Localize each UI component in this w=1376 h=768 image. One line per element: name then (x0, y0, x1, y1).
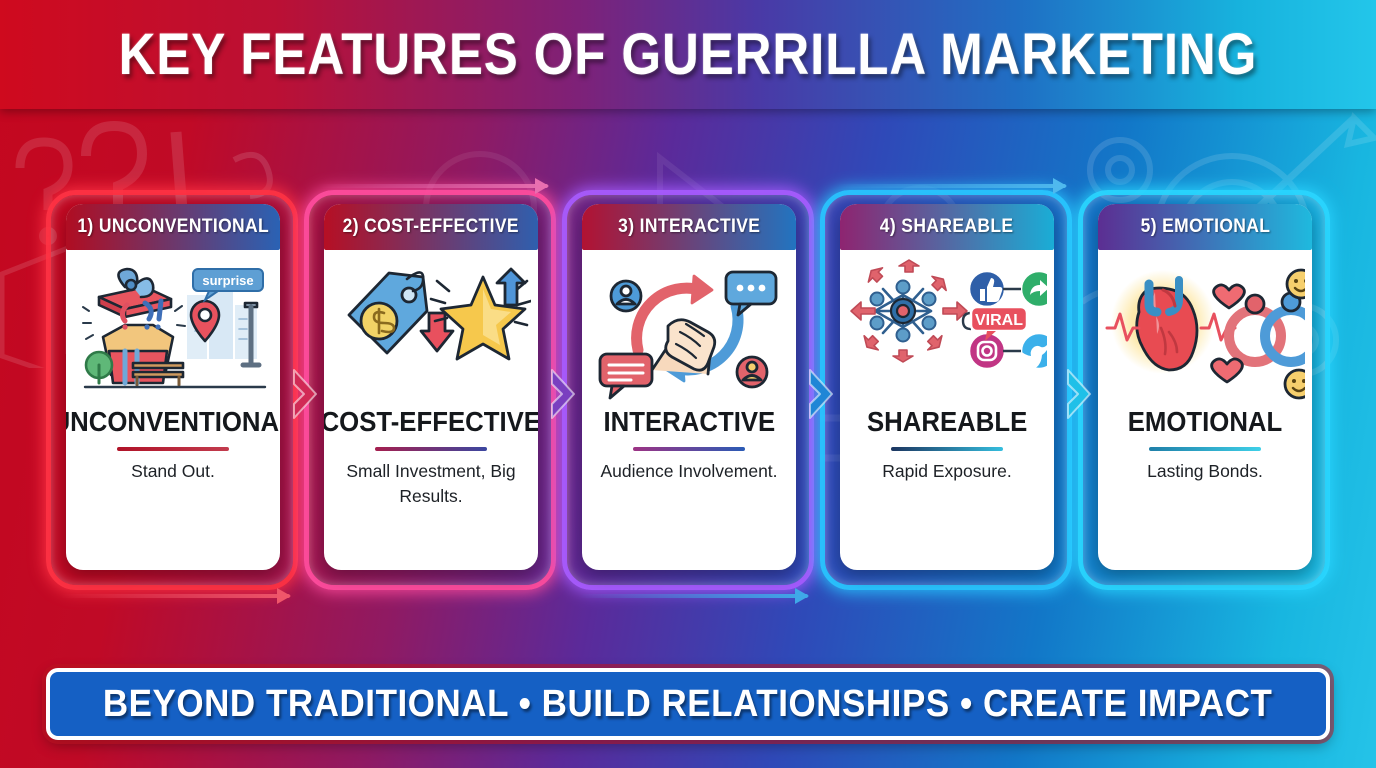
card-divider (633, 447, 745, 451)
arrow-head-icon (1053, 178, 1067, 194)
flow-arrow-bottom-2 (578, 594, 808, 598)
arrow-head-icon (277, 588, 291, 604)
card-title: SHAREABLE (867, 406, 1027, 438)
card-subtitle: Small Investment, Big Results. (324, 459, 538, 510)
card-illustration (324, 250, 538, 402)
flow-arrow-top-2 (836, 184, 1066, 188)
arrow-shaft (578, 594, 808, 598)
card-body[interactable]: 5) EMOTIONAL EMOTIONALLastin (1098, 204, 1312, 570)
heart-bonds-icon (1105, 256, 1305, 402)
arrow-head-icon (795, 588, 809, 604)
chevron-right-icon (806, 366, 836, 422)
card-title: EMOTIONAL (1128, 406, 1283, 438)
chevron-connector-3 (806, 366, 836, 422)
card-divider (891, 447, 1003, 451)
gift-box-surprise-city-icon: surprise (75, 259, 271, 399)
svg-text:surprise: surprise (202, 273, 253, 288)
card-title: UNCONVENTIONAL (66, 406, 280, 438)
feature-card-2[interactable]: 2) COST-EFFECTIVE COST-EFFECTIVESmall In… (304, 190, 556, 590)
footer-banner-text: BEYOND TRADITIONAL • BUILD RELATIONSHIPS… (103, 683, 1273, 726)
chevron-connector-1 (290, 366, 320, 422)
page-title: KEY FEATURES OF GUERRILLA MARKETING (119, 21, 1258, 88)
footer-banner: BEYOND TRADITIONAL • BUILD RELATIONSHIPS… (46, 668, 1330, 740)
card-badge-label: 5) EMOTIONAL (1140, 216, 1270, 238)
card-body[interactable]: 2) COST-EFFECTIVE COST-EFFECTIVESmall In… (324, 204, 538, 570)
card-body[interactable]: 1) UNCONVENTIONAL (66, 204, 280, 570)
flow-arrow-top-1 (318, 184, 548, 188)
card-badge: 2) COST-EFFECTIVE (324, 204, 538, 250)
handshake-chat-icon (594, 254, 784, 404)
arrow-shaft (60, 594, 290, 598)
feature-card-4[interactable]: 4) SHAREABLE (820, 190, 1072, 590)
feature-card-5[interactable]: 5) EMOTIONAL EMOTIONALLastin (1078, 190, 1330, 590)
card-title: INTERACTIVE (603, 406, 775, 438)
card-subtitle: Stand Out. (121, 459, 225, 484)
chevron-right-icon (548, 366, 578, 422)
card-badge-label: 2) COST-EFFECTIVE (343, 216, 519, 238)
page-header: KEY FEATURES OF GUERRILLA MARKETING (0, 0, 1376, 109)
feature-card-1[interactable]: 1) UNCONVENTIONAL (46, 190, 298, 590)
card-subtitle: Rapid Exposure. (872, 459, 1021, 484)
card-divider (117, 447, 229, 451)
arrow-head-icon (535, 178, 549, 194)
network-share-viral-icon: VIRAL (847, 255, 1047, 403)
card-illustration: VIRAL (840, 250, 1054, 402)
card-body[interactable]: 4) SHAREABLE (840, 204, 1054, 570)
svg-text:VIRAL: VIRAL (975, 312, 1023, 329)
card-badge-label: 1) UNCONVENTIONAL (77, 216, 269, 238)
arrow-shaft (318, 184, 548, 188)
chevron-connector-4 (1064, 366, 1094, 422)
card-badge: 1) UNCONVENTIONAL (66, 204, 280, 250)
card-illustration (1098, 250, 1312, 402)
arrow-shaft (836, 184, 1066, 188)
card-subtitle: Audience Involvement. (590, 459, 787, 484)
price-tag-star-icon (331, 255, 531, 403)
card-body[interactable]: 3) INTERACTIVE INTERACTIVEAudience Invol… (582, 204, 796, 570)
card-subtitle: Lasting Bonds. (1137, 459, 1273, 484)
card-badge-label: 3) INTERACTIVE (618, 216, 760, 238)
card-illustration (582, 250, 796, 402)
card-title: COST-EFFECTIVE (324, 406, 538, 438)
card-badge-label: 4) SHAREABLE (880, 216, 1014, 238)
chevron-connector-2 (548, 366, 578, 422)
feature-card-3[interactable]: 3) INTERACTIVE INTERACTIVEAudience Invol… (562, 190, 814, 590)
card-divider (1149, 447, 1261, 451)
feature-card-row: 1) UNCONVENTIONAL (0, 190, 1376, 590)
card-divider (375, 447, 487, 451)
infographic-canvas: KEY FEATURES OF GUERRILLA MARKETING 1) U… (0, 0, 1376, 768)
flow-arrow-bottom-1 (60, 594, 290, 598)
card-illustration: surprise (66, 250, 280, 402)
chevron-right-icon (1064, 366, 1094, 422)
card-badge: 5) EMOTIONAL (1098, 204, 1312, 250)
card-badge: 4) SHAREABLE (840, 204, 1054, 250)
card-badge: 3) INTERACTIVE (582, 204, 796, 250)
chevron-right-icon (290, 366, 320, 422)
